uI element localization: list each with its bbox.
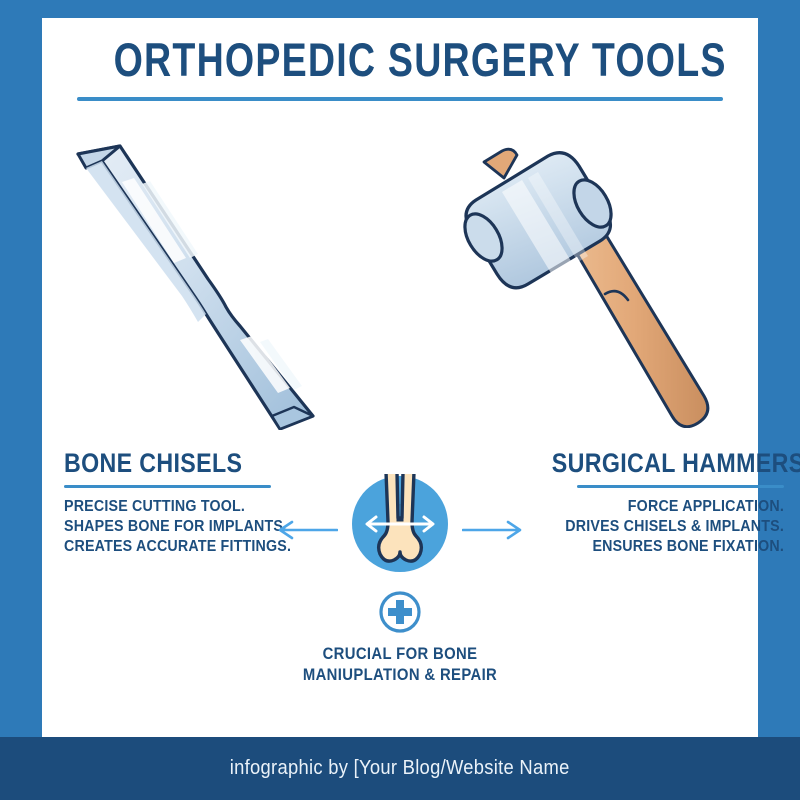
footer-bar: infographic by [Your Blog/Website Name [0, 737, 800, 800]
right-column-underline [577, 485, 784, 488]
list-item: DRIVES CHISELS & IMPLANTS. [536, 517, 784, 537]
left-column-underline [64, 485, 271, 488]
bone-chisel-illustration [52, 140, 372, 430]
medical-cross-icon [378, 590, 422, 634]
list-item: FORCE APPLICATION. [536, 497, 784, 517]
arrow-right-icon [462, 520, 524, 540]
content-panel: ORTHOPEDIC SURGERY TOOLS [42, 18, 758, 737]
surgical-hammer-illustration [432, 128, 752, 428]
arrow-left-icon [276, 520, 338, 540]
list-item: ENSURES BONE FIXATION. [536, 537, 784, 557]
badge-line-1: CRUCIAL FOR BONE [78, 644, 722, 665]
list-item: PRECISE CUTTING TOOL. [64, 497, 312, 517]
bottom-badge: CRUCIAL FOR BONE MANIUPLATION & REPAIR [42, 590, 758, 686]
infographic-root: ORTHOPEDIC SURGERY TOOLS [0, 0, 800, 800]
left-column-heading: BONE CHISELS [64, 448, 296, 478]
footer-credit: infographic by [Your Blog/Website Name [230, 757, 570, 780]
right-column-points: FORCE APPLICATION. DRIVES CHISELS & IMPL… [514, 497, 784, 557]
page-title: ORTHOPEDIC SURGERY TOOLS [114, 32, 687, 88]
bone-fracture-measure-icon [350, 474, 450, 574]
badge-line-2: MANIUPLATION & REPAIR [78, 665, 722, 686]
illustration-row [42, 128, 758, 438]
left-column: BONE CHISELS PRECISE CUTTING TOOL. SHAPE… [64, 448, 334, 557]
right-column: SURGICAL HAMMERS FORCE APPLICATION. DRIV… [514, 448, 784, 557]
badge-caption: CRUCIAL FOR BONE MANIUPLATION & REPAIR [78, 644, 722, 686]
right-column-heading: SURGICAL HAMMERS [552, 448, 784, 478]
title-underline [77, 97, 723, 101]
